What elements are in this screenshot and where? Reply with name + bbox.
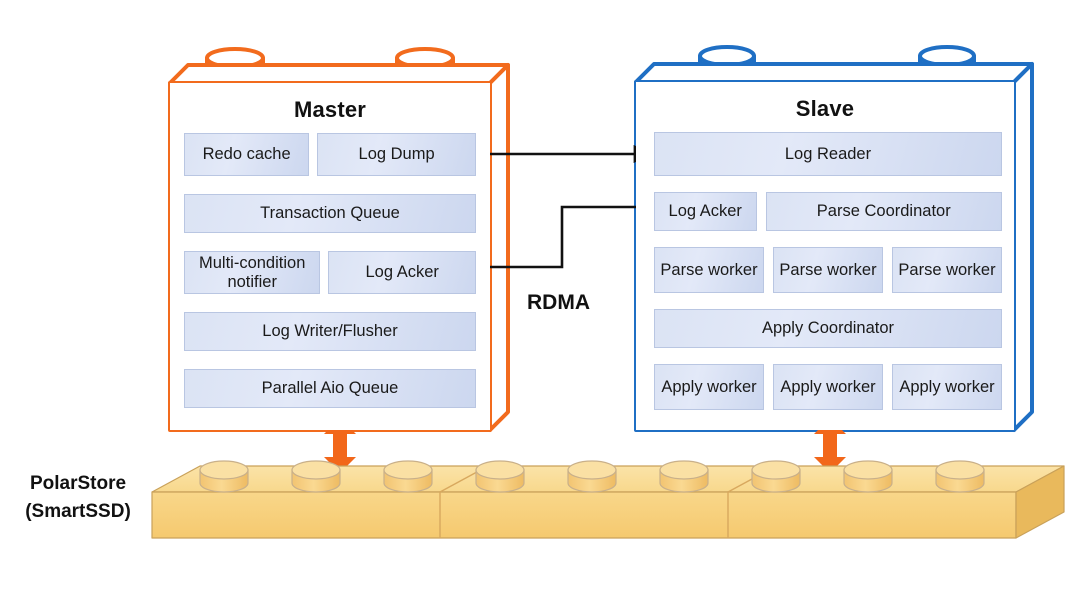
component-apply-worker[interactable]: Apply worker	[892, 364, 1002, 410]
polarstore-label: PolarStore (SmartSSD)	[8, 470, 148, 525]
row-log-writer-flusher: Log Writer/Flusher	[184, 312, 476, 351]
component-log-reader[interactable]: Log Reader	[654, 132, 1002, 176]
component-multi-condition-notifier[interactable]: Multi-condition notifier	[184, 251, 320, 294]
row-transaction-queue: Transaction Queue	[184, 194, 476, 233]
polarstore-slab	[152, 461, 1064, 538]
rdma-label: RDMA	[527, 291, 590, 315]
polarstore-studs	[200, 461, 984, 492]
row-apply-workers: Apply workerApply workerApply worker	[654, 364, 1002, 410]
row-parallel-aio-queue: Parallel Aio Queue	[184, 369, 476, 408]
component-log-dump[interactable]: Log Dump	[317, 133, 476, 176]
component-parse-worker[interactable]: Parse worker	[773, 247, 883, 293]
slave-component-list: Log ReaderLog AckerParse CoordinatorPars…	[654, 132, 1002, 410]
component-parse-worker[interactable]: Parse worker	[654, 247, 764, 293]
row-acker-parsecoord: Log AckerParse Coordinator	[654, 192, 1002, 231]
row-parse-workers: Parse workerParse workerParse worker	[654, 247, 1002, 293]
component-log-acker[interactable]: Log Acker	[328, 251, 476, 294]
row-log-reader: Log Reader	[654, 132, 1002, 176]
component-apply-coordinator[interactable]: Apply Coordinator	[654, 309, 1002, 348]
master-title: Master	[170, 97, 490, 123]
slave-title: Slave	[636, 96, 1014, 122]
component-redo-cache[interactable]: Redo cache	[184, 133, 309, 176]
component-transaction-queue[interactable]: Transaction Queue	[184, 194, 476, 233]
component-apply-worker[interactable]: Apply worker	[773, 364, 883, 410]
component-log-writer-flusher[interactable]: Log Writer/Flusher	[184, 312, 476, 351]
polarstore-label-line2: (SmartSSD)	[8, 498, 148, 526]
slave-server: Slave Log ReaderLog AckerParse Coordinat…	[636, 82, 1014, 430]
component-log-acker[interactable]: Log Acker	[654, 192, 757, 231]
component-apply-worker[interactable]: Apply worker	[654, 364, 764, 410]
diagram-canvas: Master Redo cacheLog DumpTransaction Que…	[0, 0, 1080, 598]
row-redo-logdump: Redo cacheLog Dump	[184, 133, 476, 176]
row-apply-coordinator: Apply Coordinator	[654, 309, 1002, 348]
component-parse-worker[interactable]: Parse worker	[892, 247, 1002, 293]
polarstore-label-line1: PolarStore	[8, 470, 148, 498]
row-notifier-acker: Multi-condition notifierLog Acker	[184, 251, 476, 294]
master-server: Master Redo cacheLog DumpTransaction Que…	[170, 83, 490, 430]
component-parse-coordinator[interactable]: Parse Coordinator	[766, 192, 1003, 231]
component-parallel-aio-queue[interactable]: Parallel Aio Queue	[184, 369, 476, 408]
master-component-list: Redo cacheLog DumpTransaction QueueMulti…	[184, 133, 476, 408]
